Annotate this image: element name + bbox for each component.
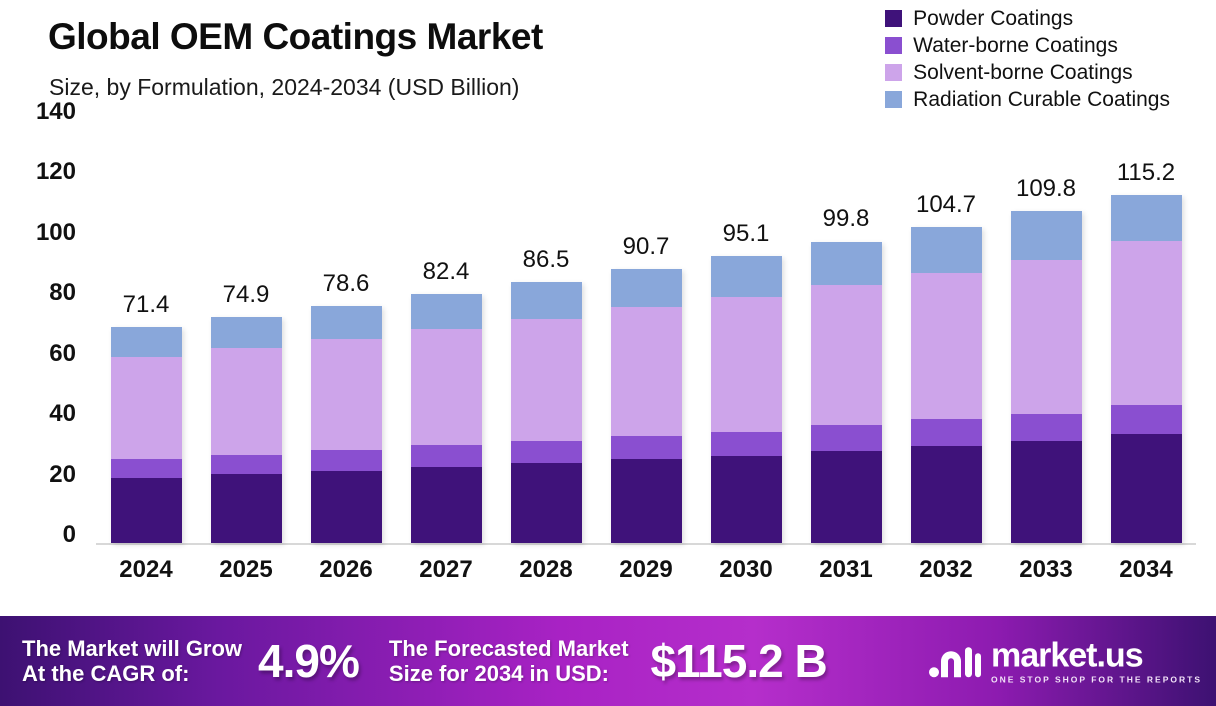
- bar-column[interactable]: 104.7: [896, 120, 996, 543]
- y-axis-tick-label: 120: [36, 158, 76, 186]
- y-axis-tick-label: 20: [49, 461, 76, 489]
- forecast-block: The Forecasted Market Size for 2034 in U…: [389, 634, 827, 688]
- bar-segment[interactable]: [911, 446, 982, 543]
- bar-segment[interactable]: [111, 459, 182, 478]
- bar-segment[interactable]: [811, 242, 882, 286]
- y-axis-tick-label: 140: [36, 98, 76, 126]
- forecast-label-line1: The Forecasted Market: [389, 636, 629, 661]
- x-axis-tick-label: 2029: [596, 556, 696, 584]
- x-axis-labels: 2024202520262027202820292030203120322033…: [96, 556, 1196, 584]
- stacked-bar[interactable]: [711, 256, 782, 543]
- bar-segment[interactable]: [811, 285, 882, 425]
- bar-total-label: 71.4: [123, 291, 170, 319]
- bar-segment[interactable]: [511, 463, 582, 543]
- bar-column[interactable]: 90.7: [596, 120, 696, 543]
- bar-segment[interactable]: [1111, 434, 1182, 543]
- y-axis-tick-label: 80: [49, 279, 76, 307]
- bar-segment[interactable]: [311, 450, 382, 471]
- legend-label: Water-borne Coatings: [913, 35, 1118, 56]
- bar-total-label: 104.7: [916, 191, 976, 219]
- bar-column[interactable]: 115.2: [1096, 120, 1196, 543]
- bar-segment[interactable]: [711, 297, 782, 432]
- legend-swatch-icon: [885, 91, 902, 108]
- bar-segment[interactable]: [1011, 211, 1082, 259]
- bar-segment[interactable]: [711, 256, 782, 297]
- stacked-bar[interactable]: [911, 227, 982, 543]
- legend-swatch-icon: [885, 37, 902, 54]
- legend-swatch-icon: [885, 64, 902, 81]
- stacked-bar[interactable]: [511, 282, 582, 543]
- cagr-label-line1: The Market will Grow: [22, 636, 242, 661]
- stacked-bar[interactable]: [611, 269, 682, 543]
- chart-legend: Powder CoatingsWater-borne CoatingsSolve…: [885, 8, 1170, 110]
- bar-total-label: 90.7: [623, 233, 670, 261]
- stacked-bar[interactable]: [411, 294, 482, 543]
- x-axis-tick-label: 2033: [996, 556, 1096, 584]
- bar-segment[interactable]: [511, 282, 582, 319]
- bar-segment[interactable]: [411, 445, 482, 466]
- bar-segment[interactable]: [511, 441, 582, 463]
- bar-segment[interactable]: [411, 329, 482, 445]
- x-axis-tick-label: 2034: [1096, 556, 1196, 584]
- bar-total-label: 78.6: [323, 270, 370, 298]
- bar-segment[interactable]: [111, 478, 182, 543]
- legend-item[interactable]: Solvent-borne Coatings: [885, 62, 1132, 83]
- bar-segment[interactable]: [211, 317, 282, 348]
- market-us-logo[interactable]: market.us ONE STOP SHOP FOR THE REPORTS: [927, 638, 1202, 684]
- bar-segment[interactable]: [911, 227, 982, 273]
- x-axis-tick-label: 2028: [496, 556, 596, 584]
- chart-infographic: Global OEM Coatings Market Size, by Form…: [0, 0, 1216, 706]
- bar-total-label: 109.8: [1016, 175, 1076, 203]
- x-axis-tick-label: 2031: [796, 556, 896, 584]
- bar-segment[interactable]: [511, 319, 582, 441]
- bar-segment[interactable]: [1111, 405, 1182, 434]
- bar-segment[interactable]: [1011, 414, 1082, 441]
- bar-segment[interactable]: [711, 456, 782, 543]
- y-axis-tick-label: 0: [63, 521, 76, 549]
- bar-column[interactable]: 82.4: [396, 120, 496, 543]
- bar-segment[interactable]: [611, 436, 682, 459]
- y-axis-tick-label: 40: [49, 400, 76, 428]
- logo-wordmark: market.us: [991, 638, 1202, 672]
- bar-segment[interactable]: [311, 471, 382, 544]
- forecast-label: The Forecasted Market Size for 2034 in U…: [389, 636, 629, 687]
- legend-item[interactable]: Radiation Curable Coatings: [885, 89, 1170, 110]
- bar-column[interactable]: 95.1: [696, 120, 796, 543]
- bar-total-label: 99.8: [823, 205, 870, 233]
- forecast-label-line2: Size for 2034 in USD:: [389, 661, 609, 686]
- bar-segment[interactable]: [311, 306, 382, 340]
- bar-segment[interactable]: [1011, 441, 1082, 543]
- logo-text: market.us ONE STOP SHOP FOR THE REPORTS: [991, 638, 1202, 684]
- bar-segment[interactable]: [811, 425, 882, 450]
- legend-item[interactable]: Water-borne Coatings: [885, 35, 1118, 56]
- legend-swatch-icon: [885, 10, 902, 27]
- x-axis-tick-label: 2024: [96, 556, 196, 584]
- bar-total-label: 82.4: [423, 258, 470, 286]
- bar-segment[interactable]: [611, 269, 682, 307]
- stacked-bar[interactable]: [311, 306, 382, 543]
- bar-column[interactable]: 71.4: [96, 120, 196, 543]
- x-axis-tick-label: 2025: [196, 556, 296, 584]
- legend-label: Radiation Curable Coatings: [913, 89, 1170, 110]
- stacked-bar[interactable]: [1111, 195, 1182, 543]
- bar-total-label: 115.2: [1117, 159, 1175, 187]
- bar-segment[interactable]: [911, 419, 982, 445]
- bar-segment[interactable]: [1111, 241, 1182, 404]
- cagr-block: The Market will Grow At the CAGR of: 4.9…: [22, 634, 359, 688]
- y-axis-tick-label: 60: [49, 340, 76, 368]
- page-title: Global OEM Coatings Market: [48, 16, 543, 58]
- logo-tagline: ONE STOP SHOP FOR THE REPORTS: [991, 675, 1202, 684]
- bar-column[interactable]: 109.8: [996, 120, 1096, 543]
- bar-segment[interactable]: [211, 348, 282, 454]
- bar-segment[interactable]: [811, 451, 882, 543]
- bar-column[interactable]: 74.9: [196, 120, 296, 543]
- stacked-bar[interactable]: [211, 317, 282, 543]
- bar-segment[interactable]: [1011, 260, 1082, 414]
- x-axis-tick-label: 2026: [296, 556, 396, 584]
- legend-label: Powder Coatings: [913, 8, 1073, 29]
- stacked-bar[interactable]: [111, 327, 182, 543]
- bar-column[interactable]: 86.5: [496, 120, 596, 543]
- page-subtitle: Size, by Formulation, 2024-2034 (USD Bil…: [49, 74, 519, 101]
- stacked-bar[interactable]: [1011, 211, 1082, 543]
- stacked-bar[interactable]: [811, 242, 882, 544]
- bar-segment[interactable]: [611, 307, 682, 435]
- legend-label: Solvent-borne Coatings: [913, 62, 1132, 83]
- y-axis: 020406080100120140: [0, 112, 86, 536]
- bar-segment[interactable]: [111, 357, 182, 459]
- footer-banner: The Market will Grow At the CAGR of: 4.9…: [0, 616, 1216, 706]
- x-axis-tick-label: 2030: [696, 556, 796, 584]
- cagr-label: The Market will Grow At the CAGR of:: [22, 636, 242, 687]
- bar-segment[interactable]: [311, 339, 382, 450]
- bar-segment[interactable]: [411, 467, 482, 543]
- y-axis-tick-label: 100: [36, 219, 76, 247]
- bar-column[interactable]: 99.8: [796, 120, 896, 543]
- bar-total-label: 86.5: [523, 246, 570, 274]
- bar-total-label: 95.1: [723, 220, 770, 248]
- x-axis-tick-label: 2032: [896, 556, 996, 584]
- legend-item[interactable]: Powder Coatings: [885, 8, 1073, 29]
- bar-segment[interactable]: [211, 455, 282, 475]
- bar-segment[interactable]: [1111, 195, 1182, 242]
- cagr-value: 4.9%: [258, 634, 359, 688]
- bar-segment[interactable]: [611, 459, 682, 543]
- bar-column[interactable]: 78.6: [296, 120, 396, 543]
- bar-segment[interactable]: [211, 474, 282, 543]
- bar-segment[interactable]: [911, 273, 982, 420]
- cagr-label-line2: At the CAGR of:: [22, 661, 189, 686]
- logo-mark-icon: [927, 641, 981, 681]
- bar-series-area: 71.474.978.682.486.590.795.199.8104.7109…: [96, 120, 1196, 543]
- bar-segment[interactable]: [111, 327, 182, 357]
- bar-segment[interactable]: [411, 294, 482, 329]
- x-axis-tick-label: 2027: [396, 556, 496, 584]
- bar-total-label: 74.9: [223, 281, 270, 309]
- forecast-value: $115.2 B: [651, 634, 827, 688]
- x-axis-line: [96, 543, 1196, 545]
- bar-segment[interactable]: [711, 432, 782, 456]
